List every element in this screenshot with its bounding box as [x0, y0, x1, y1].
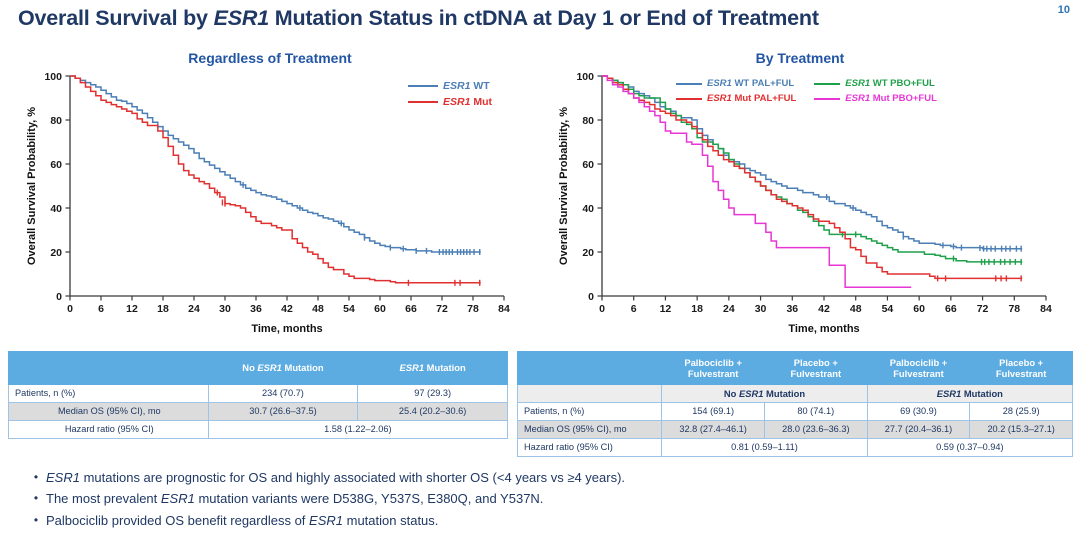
x-tick-label: 30: [219, 303, 231, 315]
cell-hazard-ratio-mutation: 0.59 (0.37–0.94): [867, 438, 1072, 456]
x-tick-label: 60: [374, 303, 386, 315]
regardless-of-treatment-table: No ESR1 MutationESR1 Mutation Patients, …: [8, 351, 508, 439]
table-left-header: No ESR1 MutationESR1 Mutation: [9, 352, 508, 385]
x-tick-label: 0: [67, 303, 73, 315]
key-findings-list: •ESR1 mutations are prognostic for OS an…: [22, 470, 1062, 534]
cell-mut: 97 (29.3): [358, 385, 508, 403]
panel-subtitle-left: Regardless of Treatment: [30, 50, 510, 66]
table-row: Palbociclib +FulvestrantPlacebo +Fulvest…: [518, 352, 1073, 385]
row-label: Hazard ratio (95% CI): [518, 438, 662, 456]
cell-c1: 154 (69.1): [662, 403, 765, 421]
x-tick-label: 42: [281, 303, 293, 315]
x-tick-label: 0: [599, 303, 605, 315]
col-header-c3: Palbociclib +Fulvestrant: [867, 352, 970, 385]
bullet-dot-icon: •: [22, 513, 46, 528]
legend-label: ESR1 WT PBO+FUL: [845, 78, 934, 89]
x-tick-label: 24: [188, 303, 200, 315]
legend-item: ESR1 Mut PBO+FUL: [814, 93, 937, 104]
table-row: No ESR1 MutationESR1 Mutation: [9, 352, 508, 385]
x-tick-label: 78: [1008, 303, 1020, 315]
x-tick-label: 12: [660, 303, 672, 315]
col-header-c2: Placebo +Fulvestrant: [764, 352, 867, 385]
km-chart-regardless-of-treatment: 0612182430364248546066727884020406080100…: [24, 66, 514, 334]
legend-label: ESR1 Mut PBO+FUL: [845, 93, 937, 104]
legend-label: ESR1 Mut: [443, 96, 492, 108]
y-tick-label: 40: [50, 203, 62, 215]
cell-c2: 28.0 (23.6–36.3): [764, 420, 867, 438]
cell-c3: 69 (30.9): [867, 403, 970, 421]
cell-mut: 25.4 (20.2–30.6): [358, 402, 508, 420]
cell-hazard-ratio-no-mutation: 0.81 (0.59–1.11): [662, 438, 867, 456]
bullet-text: The most prevalent ESR1 mutation variant…: [46, 491, 1062, 507]
legend-label: ESR1 Mut PAL+FUL: [707, 93, 796, 104]
x-tick-label: 30: [755, 303, 767, 315]
slide-root: Overall Survival by ESR1 Mutation Status…: [0, 0, 1080, 533]
x-tick-label: 6: [98, 303, 104, 315]
page-title: Overall Survival by ESR1 Mutation Status…: [18, 6, 1028, 31]
legend-label: ESR1 WT PAL+FUL: [707, 78, 794, 89]
cell-no_mut: 234 (70.7): [208, 385, 358, 403]
x-tick-label: 36: [786, 303, 798, 315]
bullet-text: Palbociclib provided OS benefit regardle…: [46, 513, 1062, 529]
x-tick-label: 66: [945, 303, 957, 315]
x-tick-label: 78: [467, 303, 479, 315]
y-tick-label: 0: [588, 291, 594, 303]
cell-c3: 27.7 (20.4–36.1): [867, 420, 970, 438]
table-group-row: No ESR1 MutationESR1 Mutation: [518, 385, 1073, 403]
col-header-mut: ESR1 Mutation: [358, 352, 508, 385]
list-item: •The most prevalent ESR1 mutation varian…: [22, 491, 1062, 507]
chart-legend: ESR1 WTESR1 Mut: [408, 80, 492, 112]
y-tick-label: 0: [56, 291, 62, 303]
row-label: Median OS (95% CI), mo: [518, 420, 662, 438]
list-item: •Palbociclib provided OS benefit regardl…: [22, 513, 1062, 529]
y-tick-label: 80: [50, 115, 62, 127]
legend-item: ESR1 WT: [408, 80, 492, 92]
cell-c4: 28 (25.9): [970, 403, 1073, 421]
cell-c4: 20.2 (15.3–27.1): [970, 420, 1073, 438]
table-right-body: No ESR1 MutationESR1 MutationPatients, n…: [518, 385, 1073, 457]
cell-c2: 80 (74.1): [764, 403, 867, 421]
table-left-body: Patients, n (%)234 (70.7)97 (29.3)Median…: [9, 385, 508, 439]
table-row: Hazard ratio (95% CI)0.81 (0.59–1.11)0.5…: [518, 438, 1073, 456]
list-item: •ESR1 mutations are prognostic for OS an…: [22, 470, 1062, 486]
col-header-c4: Placebo +Fulvestrant: [970, 352, 1073, 385]
y-tick-label: 20: [50, 247, 62, 259]
x-tick-label: 6: [631, 303, 637, 315]
panel-subtitle-right: By Treatment: [560, 50, 1040, 66]
slide-number: 10: [1058, 4, 1070, 16]
table-row: Median OS (95% CI), mo32.8 (27.4–46.1)28…: [518, 420, 1073, 438]
y-tick-label: 60: [50, 159, 62, 171]
x-tick-label: 48: [850, 303, 862, 315]
bullet-dot-icon: •: [22, 470, 46, 485]
x-tick-label: 12: [126, 303, 138, 315]
y-tick-label: 80: [582, 115, 594, 127]
group-no-esr1-mutation: No ESR1 Mutation: [662, 385, 867, 403]
x-tick-label: 54: [343, 303, 355, 315]
x-axis-label: Time, months: [788, 323, 859, 334]
col-header-no_mut: No ESR1 Mutation: [208, 352, 358, 385]
x-axis-label: Time, months: [251, 323, 322, 334]
row-label: Hazard ratio (95% CI): [9, 420, 209, 438]
by-treatment-table: Palbociclib +FulvestrantPlacebo +Fulvest…: [517, 351, 1073, 457]
y-tick-label: 20: [582, 247, 594, 259]
x-tick-label: 18: [691, 303, 703, 315]
legend-item: ESR1 WT PAL+FUL: [676, 78, 796, 89]
group-esr1-mutation: ESR1 Mutation: [867, 385, 1072, 403]
legend-swatch-line: [814, 83, 840, 85]
legend-swatch-line: [676, 83, 702, 85]
x-tick-label: 36: [250, 303, 262, 315]
y-tick-label: 40: [582, 203, 594, 215]
legend-swatch-line: [408, 85, 438, 87]
bullet-text: ESR1 mutations are prognostic for OS and…: [46, 470, 1062, 486]
col-header-label: [518, 352, 662, 385]
cell-c1: 32.8 (27.4–46.1): [662, 420, 765, 438]
x-tick-label: 24: [723, 303, 735, 315]
table-row: Patients, n (%)154 (69.1)80 (74.1)69 (30…: [518, 403, 1073, 421]
x-tick-label: 54: [882, 303, 894, 315]
x-tick-label: 60: [913, 303, 925, 315]
table-row: Median OS (95% CI), mo30.7 (26.6–37.5)25…: [9, 402, 508, 420]
x-tick-label: 42: [818, 303, 830, 315]
cell-hazard-ratio: 1.58 (1.22–2.06): [208, 420, 507, 438]
y-tick-label: 100: [576, 71, 594, 83]
chart-legend: ESR1 WT PAL+FULESR1 WT PBO+FULESR1 Mut P…: [676, 78, 937, 108]
y-axis-label: Overall Survival Probability, %: [558, 107, 570, 265]
cell-no_mut: 30.7 (26.6–37.5): [208, 402, 358, 420]
x-tick-label: 48: [312, 303, 324, 315]
group-row-blank: [518, 385, 662, 403]
legend-item: ESR1 WT PBO+FUL: [814, 78, 937, 89]
y-tick-label: 100: [44, 71, 62, 83]
row-label: Median OS (95% CI), mo: [9, 402, 209, 420]
table-row: Hazard ratio (95% CI)1.58 (1.22–2.06): [9, 420, 508, 438]
legend-swatch-line: [676, 98, 702, 100]
legend-swatch-line: [408, 101, 438, 103]
legend-label: ESR1 WT: [443, 80, 490, 92]
x-tick-label: 18: [157, 303, 169, 315]
legend-swatch-line: [814, 98, 840, 100]
y-tick-label: 60: [582, 159, 594, 171]
row-label: Patients, n (%): [518, 403, 662, 421]
km-chart-by-treatment: 0612182430364248546066727884020406080100…: [556, 66, 1056, 334]
x-tick-label: 72: [436, 303, 448, 315]
x-tick-label: 84: [498, 303, 510, 315]
col-header-label: [9, 352, 209, 385]
y-axis-label: Overall Survival Probability, %: [26, 107, 38, 265]
col-header-c1: Palbociclib +Fulvestrant: [662, 352, 765, 385]
x-tick-label: 66: [405, 303, 417, 315]
x-tick-label: 72: [977, 303, 989, 315]
table-right-header: Palbociclib +FulvestrantPlacebo +Fulvest…: [518, 352, 1073, 385]
x-tick-label: 84: [1040, 303, 1052, 315]
bullet-dot-icon: •: [22, 491, 46, 506]
row-label: Patients, n (%): [9, 385, 209, 403]
legend-item: ESR1 Mut: [408, 96, 492, 108]
legend-item: ESR1 Mut PAL+FUL: [676, 93, 796, 104]
table-row: Patients, n (%)234 (70.7)97 (29.3): [9, 385, 508, 403]
